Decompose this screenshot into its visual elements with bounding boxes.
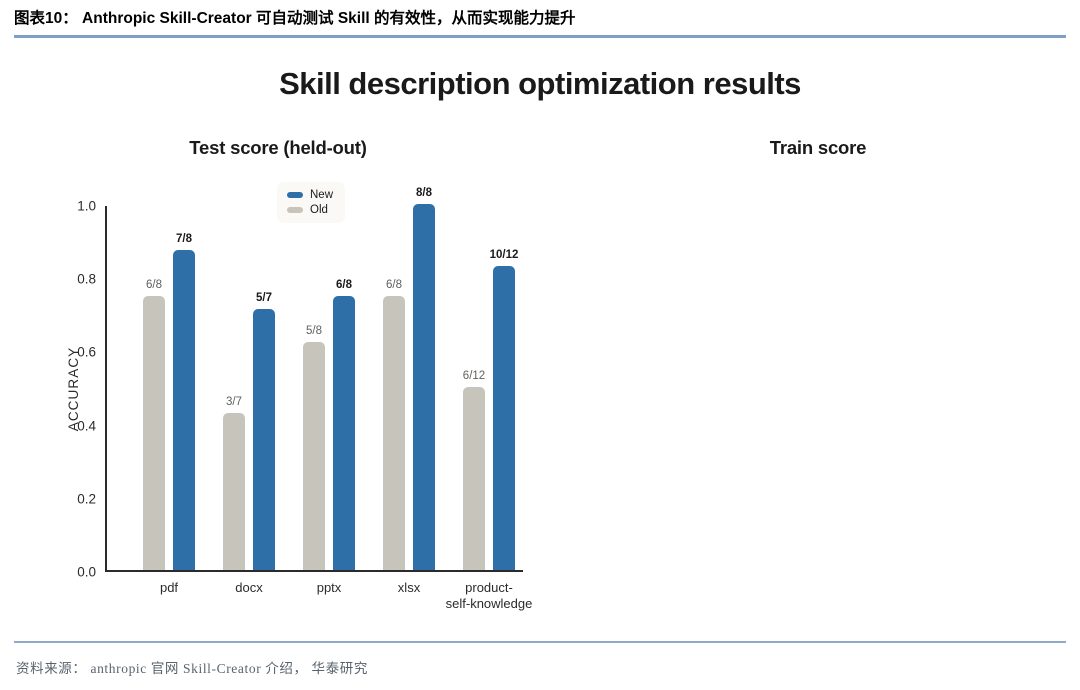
bar-value-label: 5/7: [256, 292, 272, 304]
bar-value-label: 6/8: [146, 279, 162, 291]
header-title: 图表10： Anthropic Skill-Creator 可自动测试 Skil…: [14, 8, 1066, 30]
bar-value-label: 6/12: [463, 370, 485, 382]
bar-new: 5/7: [253, 309, 275, 570]
y-axis-tick: 1.0: [77, 199, 96, 214]
y-axis-tick: 0.8: [77, 272, 96, 287]
bar-new: 7/8: [173, 250, 195, 570]
header: 图表10： Anthropic Skill-Creator 可自动测试 Skil…: [14, 8, 1066, 38]
header-divider: [14, 35, 1066, 38]
bar-group: 6/88/8xlsx: [369, 204, 449, 570]
bar-group: 6/1210/12product-self-knowledge: [449, 204, 529, 570]
chart-subtitle-train: Train score: [548, 137, 1080, 159]
bar-value-label: 6/8: [386, 279, 402, 291]
bar-new: 10/12: [493, 266, 515, 571]
bar-new: 6/8: [333, 296, 355, 571]
source-note: 资料来源： anthropic 官网 Skill-Creator 介绍， 华泰研…: [16, 657, 368, 677]
bar-new: 8/8: [413, 204, 435, 570]
y-axis-tick: 0.4: [77, 418, 96, 433]
bar-old: 6/12: [463, 387, 485, 570]
bar-value-label: 7/8: [176, 233, 192, 245]
bar-group: 6/87/8pdf: [129, 204, 209, 570]
bar-old: 6/8: [143, 296, 165, 571]
y-axis-line-test: [105, 206, 107, 572]
bar-value-label: 6/8: [336, 279, 352, 291]
bar-value-label: 10/12: [490, 249, 519, 261]
plot-area-test: ACCURACY 0.00.20.40.60.81.06/87/8pdf3/75…: [105, 206, 523, 572]
x-axis-tick-label: pdf: [160, 580, 178, 596]
bar-value-label: 8/8: [416, 187, 432, 199]
chart-panel-train-score: Train score New Old ACCURACY 0.00.20.40.…: [520, 44, 1060, 639]
footer-divider: [14, 641, 1066, 643]
x-axis-tick-label: pptx: [317, 580, 342, 596]
y-axis-tick: 0.2: [77, 491, 96, 506]
bar-group: 5/86/8pptx: [289, 204, 369, 570]
legend-item-new: New: [287, 187, 333, 202]
y-axis-tick: 0.0: [77, 565, 96, 580]
bar-group: 3/75/7docx: [209, 204, 289, 570]
figure-body: Skill description optimization results T…: [0, 44, 1080, 639]
bar-old: 3/7: [223, 413, 245, 570]
chart-subtitle-test: Test score (held-out): [8, 137, 548, 159]
x-axis-tick-label: xlsx: [398, 580, 420, 596]
legend-swatch-new: [287, 192, 303, 198]
figure-page: 图表10： Anthropic Skill-Creator 可自动测试 Skil…: [0, 0, 1080, 690]
bar-value-label: 5/8: [306, 325, 322, 337]
y-axis-tick: 0.6: [77, 345, 96, 360]
bar-value-label: 3/7: [226, 396, 242, 408]
legend-label-new: New: [310, 189, 333, 201]
bar-old: 5/8: [303, 342, 325, 571]
x-axis-line-test: [105, 570, 523, 572]
chart-panel-test-score: Test score (held-out) New Old ACCURACY 0…: [0, 44, 540, 639]
x-axis-tick-label: docx: [235, 580, 262, 596]
bar-old: 6/8: [383, 296, 405, 571]
